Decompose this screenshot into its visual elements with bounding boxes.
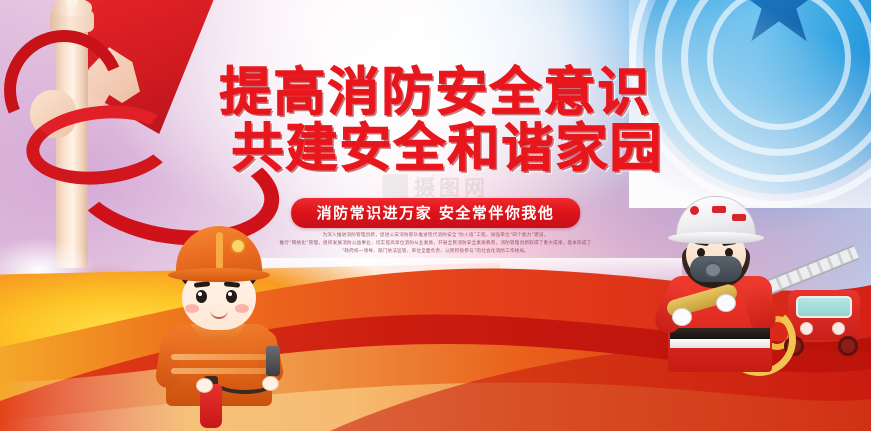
fire-safety-poster: 摄图网 提高消防安全意识 共建安全和谐家园 消防常识进万家 安全常伴你我他 为深… (0, 0, 871, 431)
subtitle-text: 消防常识进万家 安全常伴你我他 (317, 204, 555, 222)
man-glove-right (716, 294, 736, 312)
cartoon-firefighter-boy-icon (156, 226, 284, 404)
mask-valve (704, 262, 722, 278)
boy-helmet-brim (168, 268, 270, 282)
helmet-stripe (712, 206, 726, 213)
firefighter-hose-icon (660, 196, 782, 376)
boy-eye (226, 290, 237, 303)
extinguisher-nozzle (266, 346, 280, 376)
truck-headlight (800, 322, 813, 335)
boy-cheek (185, 304, 199, 313)
boy-uniform-stripe (171, 354, 267, 360)
boy-cheek (235, 304, 249, 313)
man-helmet-brim (668, 232, 764, 244)
title-line-1: 提高消防安全意识 (0, 66, 871, 120)
man-helmet-badge-icon (688, 204, 701, 217)
boy-eye (196, 290, 207, 303)
man-belt (670, 328, 770, 339)
title-line-2: 共建安全和谐家园 (24, 122, 871, 176)
man-glove-left (672, 308, 692, 326)
page-title: 提高消防安全意识 共建安全和谐家园 (0, 66, 871, 176)
truck-window (796, 296, 852, 318)
boy-hand-right (262, 376, 279, 391)
boy-hand-left (196, 378, 213, 393)
helmet-stripe (732, 214, 746, 221)
man-belt-reflective (670, 339, 770, 348)
boy-helmet-crest (216, 232, 223, 270)
subtitle-banner: 消防常识进万家 安全常伴你我他 (291, 198, 581, 228)
truck-wheel (838, 336, 858, 356)
truck-headlight (832, 322, 845, 335)
boy-helmet-badge-icon (230, 238, 246, 254)
